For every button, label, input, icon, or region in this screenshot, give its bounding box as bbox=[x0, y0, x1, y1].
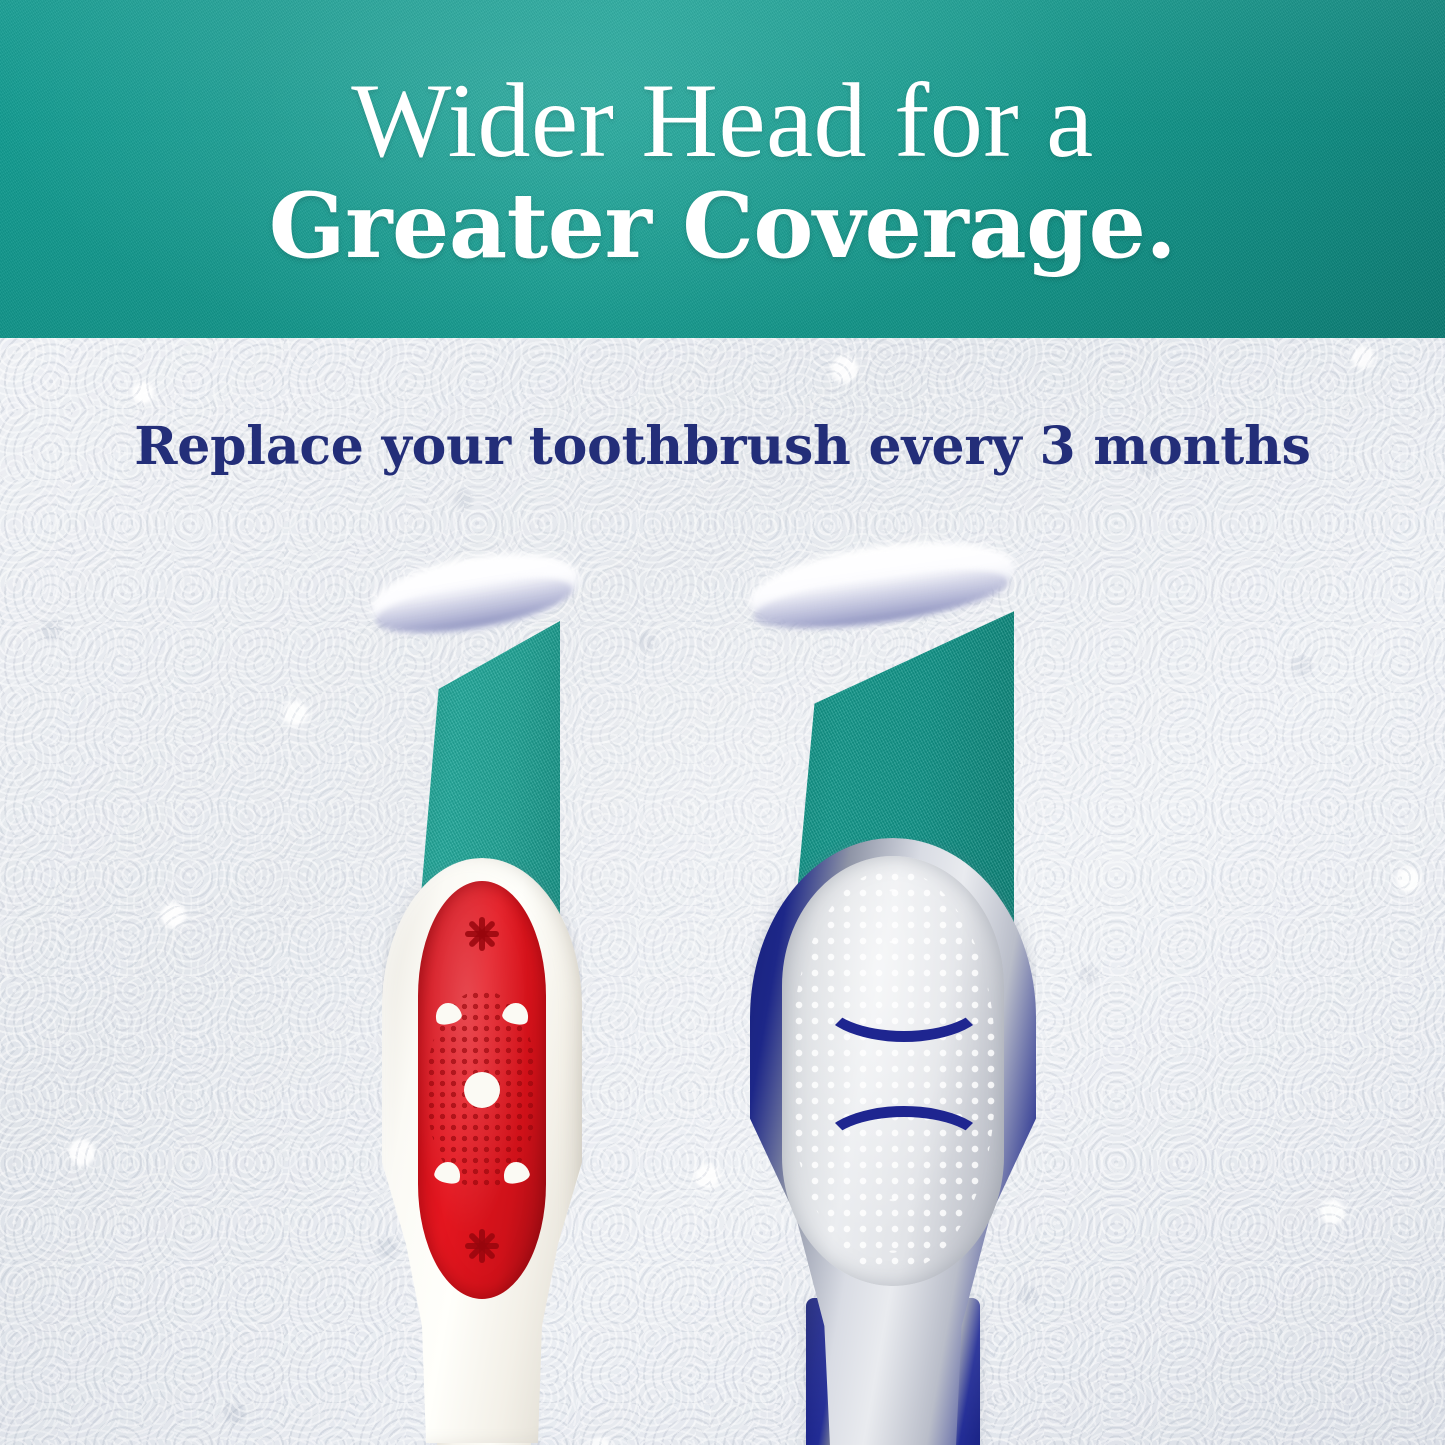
standard-toothbrush bbox=[360, 543, 630, 1443]
header-banner: Wider Head for a Greater Coverage. bbox=[0, 0, 1445, 338]
headline-line-2: Greater Coverage. bbox=[269, 181, 1176, 271]
subtitle-replace-reminder: Replace your toothbrush every 3 months bbox=[0, 416, 1445, 477]
wider-grip-nub-texture bbox=[791, 869, 995, 1273]
standard-brush-thumb-grip bbox=[418, 881, 546, 1299]
product-infographic: Wider Head for a Greater Coverage. Repla… bbox=[0, 0, 1445, 1445]
wider-grip-arc-bottom-icon bbox=[818, 1106, 990, 1190]
background-texture bbox=[0, 338, 1445, 1445]
header-text-block: Wider Head for a Greater Coverage. bbox=[0, 0, 1445, 338]
standard-grip-center-dot bbox=[464, 1072, 500, 1108]
wider-brush-thumb-grip bbox=[782, 856, 1004, 1286]
wider-grip-arc-top-icon bbox=[818, 958, 990, 1042]
product-photo-area: Replace your toothbrush every 3 months bbox=[0, 338, 1445, 1445]
standard-grip-starburst-bottom-icon bbox=[445, 1209, 519, 1283]
standard-grip-starburst-top-icon bbox=[445, 897, 519, 971]
wider-head-toothbrush bbox=[740, 538, 1060, 1445]
headline-line-1: Wider Head for a bbox=[351, 67, 1093, 181]
